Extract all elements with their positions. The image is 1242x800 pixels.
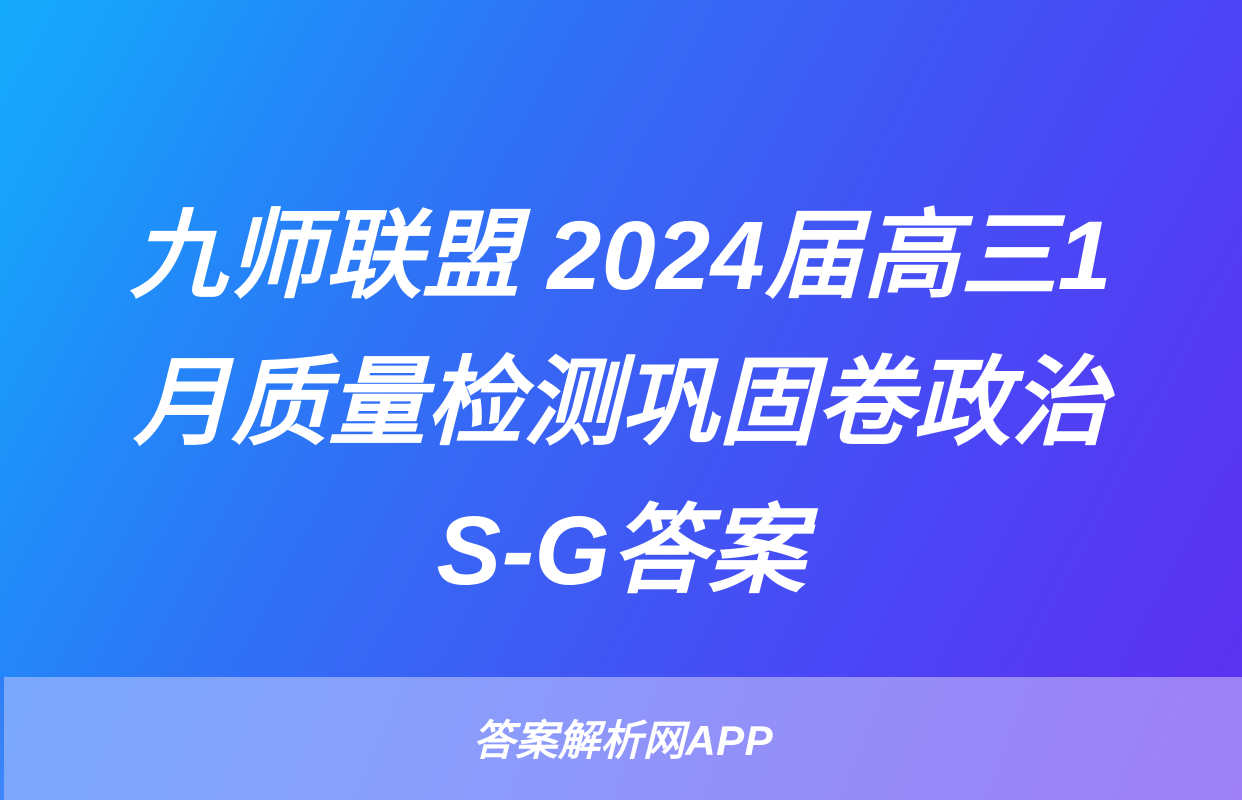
app-wordmark: 答案解析网APP: [473, 720, 773, 762]
footer-watermark-band: 答案解析网APP: [4, 677, 1242, 800]
page-title: 九师联盟 2024届高三1月质量检测巩固卷政治S-G答案: [0, 182, 1242, 624]
page-title-text: 九师联盟 2024届高三1月质量检测巩固卷政治S-G答案: [104, 182, 1138, 624]
answer-cover-card: 九师联盟 2024届高三1月质量检测巩固卷政治S-G答案 答案解析网APP: [0, 0, 1242, 800]
